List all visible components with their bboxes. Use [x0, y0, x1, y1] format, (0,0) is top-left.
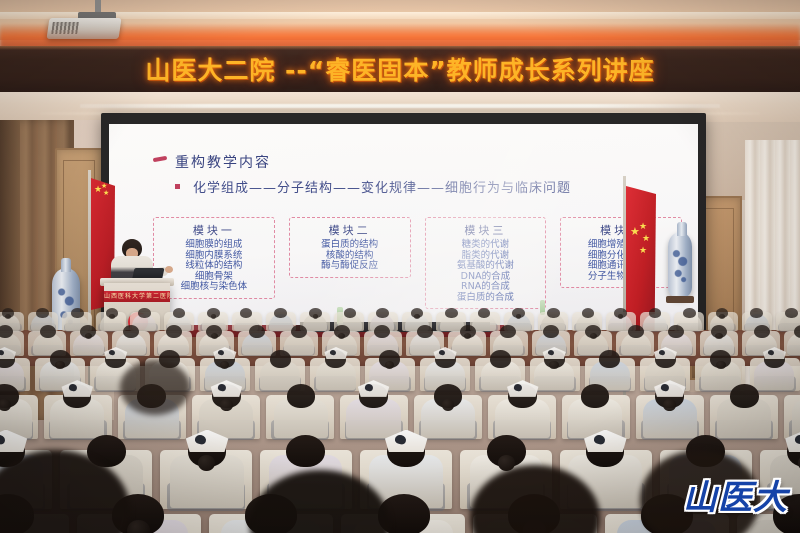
audience-person-head	[123, 325, 139, 339]
audience-person-head	[730, 384, 759, 408]
module-line: 线粒体的结构	[157, 261, 271, 272]
hair-bun	[220, 399, 233, 410]
slide-heading: 重构教学内容	[175, 152, 271, 172]
audience-person-head	[344, 308, 357, 318]
hair-bun	[715, 333, 722, 339]
led-banner: 山医大二院 --“睿医固本”教师成长系列讲座	[0, 46, 800, 92]
audience-person-head	[490, 350, 511, 368]
flag-star-icon: ★	[639, 246, 647, 255]
audience-person-head	[287, 384, 316, 408]
audience-person-head	[754, 325, 770, 339]
module-row: 模块一 细胞膜的组成 细胞内膜系统 线粒体的结构 细胞骨架 细胞核与染色体 模块…	[153, 217, 682, 309]
module-title: 模块三	[429, 222, 543, 238]
banner-text: 山医大二院 --“睿医固本”教师成长系列讲座	[0, 51, 800, 87]
audience-person-head	[581, 384, 610, 408]
module-box-3: 模块三 糖类的代谢 脂类的代谢 氨基酸的代谢 DNA的合成 RNA的合成 蛋白质…	[425, 217, 547, 309]
hair-bun	[716, 361, 725, 369]
audience-person-head	[628, 325, 644, 339]
module-title: 模块二	[293, 222, 407, 238]
vase-pattern	[671, 238, 689, 290]
audience-person-head	[138, 308, 151, 318]
slide-subheading: 化学组成——分子结构——变化规律——细胞行为与临床问题	[193, 177, 571, 196]
hair-bun	[55, 361, 64, 369]
audience-person-head	[71, 308, 84, 318]
audience-person-head	[500, 325, 516, 339]
module-line: 蛋白质的结构	[293, 240, 407, 251]
foreground-person-silhouette	[120, 360, 190, 415]
soffit-light-line	[80, 104, 720, 108]
audience-person-head	[750, 308, 763, 318]
audience-person-head	[582, 308, 595, 318]
module-line: 分子生物学技术	[564, 272, 678, 283]
hair-bun	[109, 314, 115, 319]
projector-vent	[51, 22, 79, 34]
hair-bun	[442, 399, 455, 410]
audience-person-head	[36, 308, 49, 318]
square-bullet-icon	[175, 184, 180, 189]
audience-person-head	[240, 308, 253, 318]
audience-person-head	[291, 325, 307, 339]
audience-person-head	[270, 350, 291, 368]
audience-person-head	[547, 308, 560, 318]
module-box-4: 模块四 细胞增殖与肿瘤 细胞分化与衰老 细胞通讯与信号 分子生物学技术	[560, 217, 682, 288]
module-title: 模块一	[157, 222, 271, 238]
watermark-logo: 山医大	[683, 470, 788, 519]
audience-person-head	[478, 308, 491, 318]
module-line: 细胞增殖与肿瘤	[564, 240, 678, 251]
flag-star-icon: ★	[101, 183, 107, 190]
flag-star-icon: ★	[103, 190, 109, 197]
audience-person-head	[599, 350, 620, 368]
audience-person-head	[785, 308, 798, 318]
flag-star-icon: ★	[639, 222, 647, 231]
flag-star-icon: ★	[642, 234, 650, 243]
dash-bullet-icon	[153, 156, 167, 162]
hair-bun	[211, 333, 218, 339]
hair-bun	[719, 314, 725, 319]
module-line: 糖类的代谢	[429, 240, 543, 251]
audience-person-head	[166, 325, 182, 339]
module-line: 氨基酸的代谢	[429, 261, 543, 272]
module-box-2: 模块二 蛋白质的结构 核酸的结构 酶与酶促反应	[289, 217, 411, 278]
lecture-hall-photo: 山医大二院 --“睿医固本”教师成长系列讲座 重构教学内容 化学组成——分子结构…	[0, 0, 800, 533]
module-line: 细胞膜的组成	[157, 240, 271, 251]
audience-person-head	[274, 308, 287, 318]
module-box-1: 模块一 细胞膜的组成 细胞内膜系统 线粒体的结构 细胞骨架 细胞核与染色体	[153, 217, 275, 299]
audience-person-head	[417, 325, 433, 339]
module-line: 细胞通讯与信号	[564, 261, 678, 272]
hair-bun	[198, 455, 215, 470]
audience-person-head	[543, 325, 559, 339]
hair-bun	[0, 399, 11, 410]
audience-person-head	[173, 308, 186, 318]
presenter-hand	[165, 266, 173, 273]
audience-person-head	[286, 435, 325, 467]
hair-bun	[663, 399, 676, 410]
module-line: RNA的合成	[429, 282, 543, 293]
hair-bun	[127, 520, 150, 533]
audience-area	[0, 300, 800, 533]
audience-person-head	[40, 325, 56, 339]
hair-bun	[313, 314, 319, 319]
audience-person-head	[649, 308, 662, 318]
module-title: 模块四	[564, 222, 678, 238]
module-line: 细胞核与染色体	[157, 282, 271, 293]
audience-person-head	[683, 308, 696, 318]
audience-person-head	[249, 325, 265, 339]
porcelain-vase-right	[668, 232, 692, 298]
hair-bun	[414, 314, 420, 319]
hair-bun	[5, 314, 11, 319]
audience-person-head	[376, 308, 389, 318]
module-line: 酶与酶促反应	[293, 261, 407, 272]
audience-person-head	[445, 308, 458, 318]
